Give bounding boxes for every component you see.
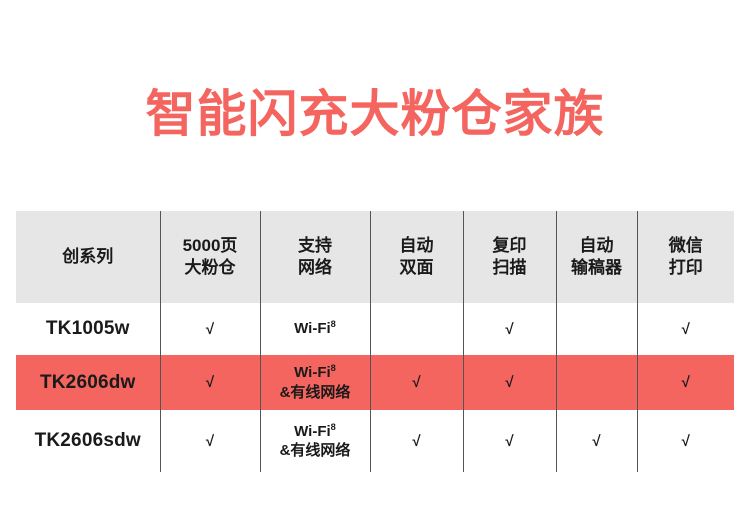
column-header-wechat: 微信 打印 <box>637 211 734 303</box>
column-header-capacity-line2: 大粉仓 <box>185 258 236 277</box>
printer-spec-comparison-table: 创系列 5000页 大粉仓 支持 网络 自动 双面 复印 扫描 <box>16 211 734 472</box>
column-header-series: 创系列 <box>16 211 160 303</box>
cell-capacity: √ <box>160 303 260 355</box>
cell-network-text: Wi-Fi <box>294 423 331 440</box>
cell-network: Wi-Fi8 &有线网络 <box>260 410 370 472</box>
column-header-network: 支持 网络 <box>260 211 370 303</box>
cell-network-superscript: 8 <box>331 363 336 373</box>
cell-network-text: Wi-Fi <box>294 364 331 381</box>
product-comparison-page: 智能闪充大粉仓家族 创系列 5000页 大粉仓 支持 网络 自动 <box>0 0 750 528</box>
cell-network-text2: &有线网络 <box>280 442 351 459</box>
cell-capacity: √ <box>160 410 260 472</box>
cell-copyscan: √ <box>463 303 556 355</box>
column-header-adf-line1: 自动 <box>580 236 614 255</box>
cell-network: Wi-Fi8 &有线网络 <box>260 355 370 410</box>
cell-duplex: √ <box>370 410 463 472</box>
table-row: TK1005w √ Wi-Fi8 √ √ <box>16 303 734 355</box>
column-header-capacity: 5000页 大粉仓 <box>160 211 260 303</box>
cell-adf <box>556 355 637 410</box>
cell-wechat: √ <box>637 410 734 472</box>
table-header: 创系列 5000页 大粉仓 支持 网络 自动 双面 复印 扫描 <box>16 211 734 303</box>
column-header-copyscan-line1: 复印 <box>493 236 527 255</box>
column-header-wechat-line1: 微信 <box>669 236 703 255</box>
cell-network-text: Wi-Fi <box>294 320 331 337</box>
column-header-adf: 自动 输稿器 <box>556 211 637 303</box>
column-header-series-label: 创系列 <box>62 247 113 266</box>
cell-duplex: √ <box>370 355 463 410</box>
column-header-copyscan-line2: 扫描 <box>493 258 527 277</box>
table-header-row: 创系列 5000页 大粉仓 支持 网络 自动 双面 复印 扫描 <box>16 211 734 303</box>
table-body: TK1005w √ Wi-Fi8 √ √ TK2606dw √ Wi-Fi8 &… <box>16 303 734 472</box>
cell-adf <box>556 303 637 355</box>
cell-adf: √ <box>556 410 637 472</box>
column-header-network-line2: 网络 <box>298 258 332 277</box>
cell-model: TK1005w <box>16 303 160 355</box>
cell-capacity: √ <box>160 355 260 410</box>
cell-network-text2: &有线网络 <box>280 384 351 401</box>
column-header-wechat-line2: 打印 <box>669 258 703 277</box>
column-header-duplex-line1: 自动 <box>400 236 434 255</box>
cell-wechat: √ <box>637 303 734 355</box>
table-row-highlighted: TK2606dw √ Wi-Fi8 &有线网络 √ √ √ <box>16 355 734 410</box>
column-header-network-line1: 支持 <box>298 236 332 255</box>
cell-model: TK2606sdw <box>16 410 160 472</box>
cell-model: TK2606dw <box>16 355 160 410</box>
column-header-duplex-line2: 双面 <box>400 258 434 277</box>
table-row: TK2606sdw √ Wi-Fi8 &有线网络 √ √ √ √ <box>16 410 734 472</box>
cell-network-superscript: 8 <box>331 319 336 329</box>
cell-duplex <box>370 303 463 355</box>
column-header-duplex: 自动 双面 <box>370 211 463 303</box>
column-header-copyscan: 复印 扫描 <box>463 211 556 303</box>
column-header-adf-line2: 输稿器 <box>571 258 622 277</box>
cell-copyscan: √ <box>463 410 556 472</box>
column-header-capacity-line1: 5000页 <box>183 236 238 255</box>
cell-wechat: √ <box>637 355 734 410</box>
cell-copyscan: √ <box>463 355 556 410</box>
cell-network: Wi-Fi8 <box>260 303 370 355</box>
page-title: 智能闪充大粉仓家族 <box>0 86 750 142</box>
cell-network-superscript: 8 <box>331 422 336 432</box>
